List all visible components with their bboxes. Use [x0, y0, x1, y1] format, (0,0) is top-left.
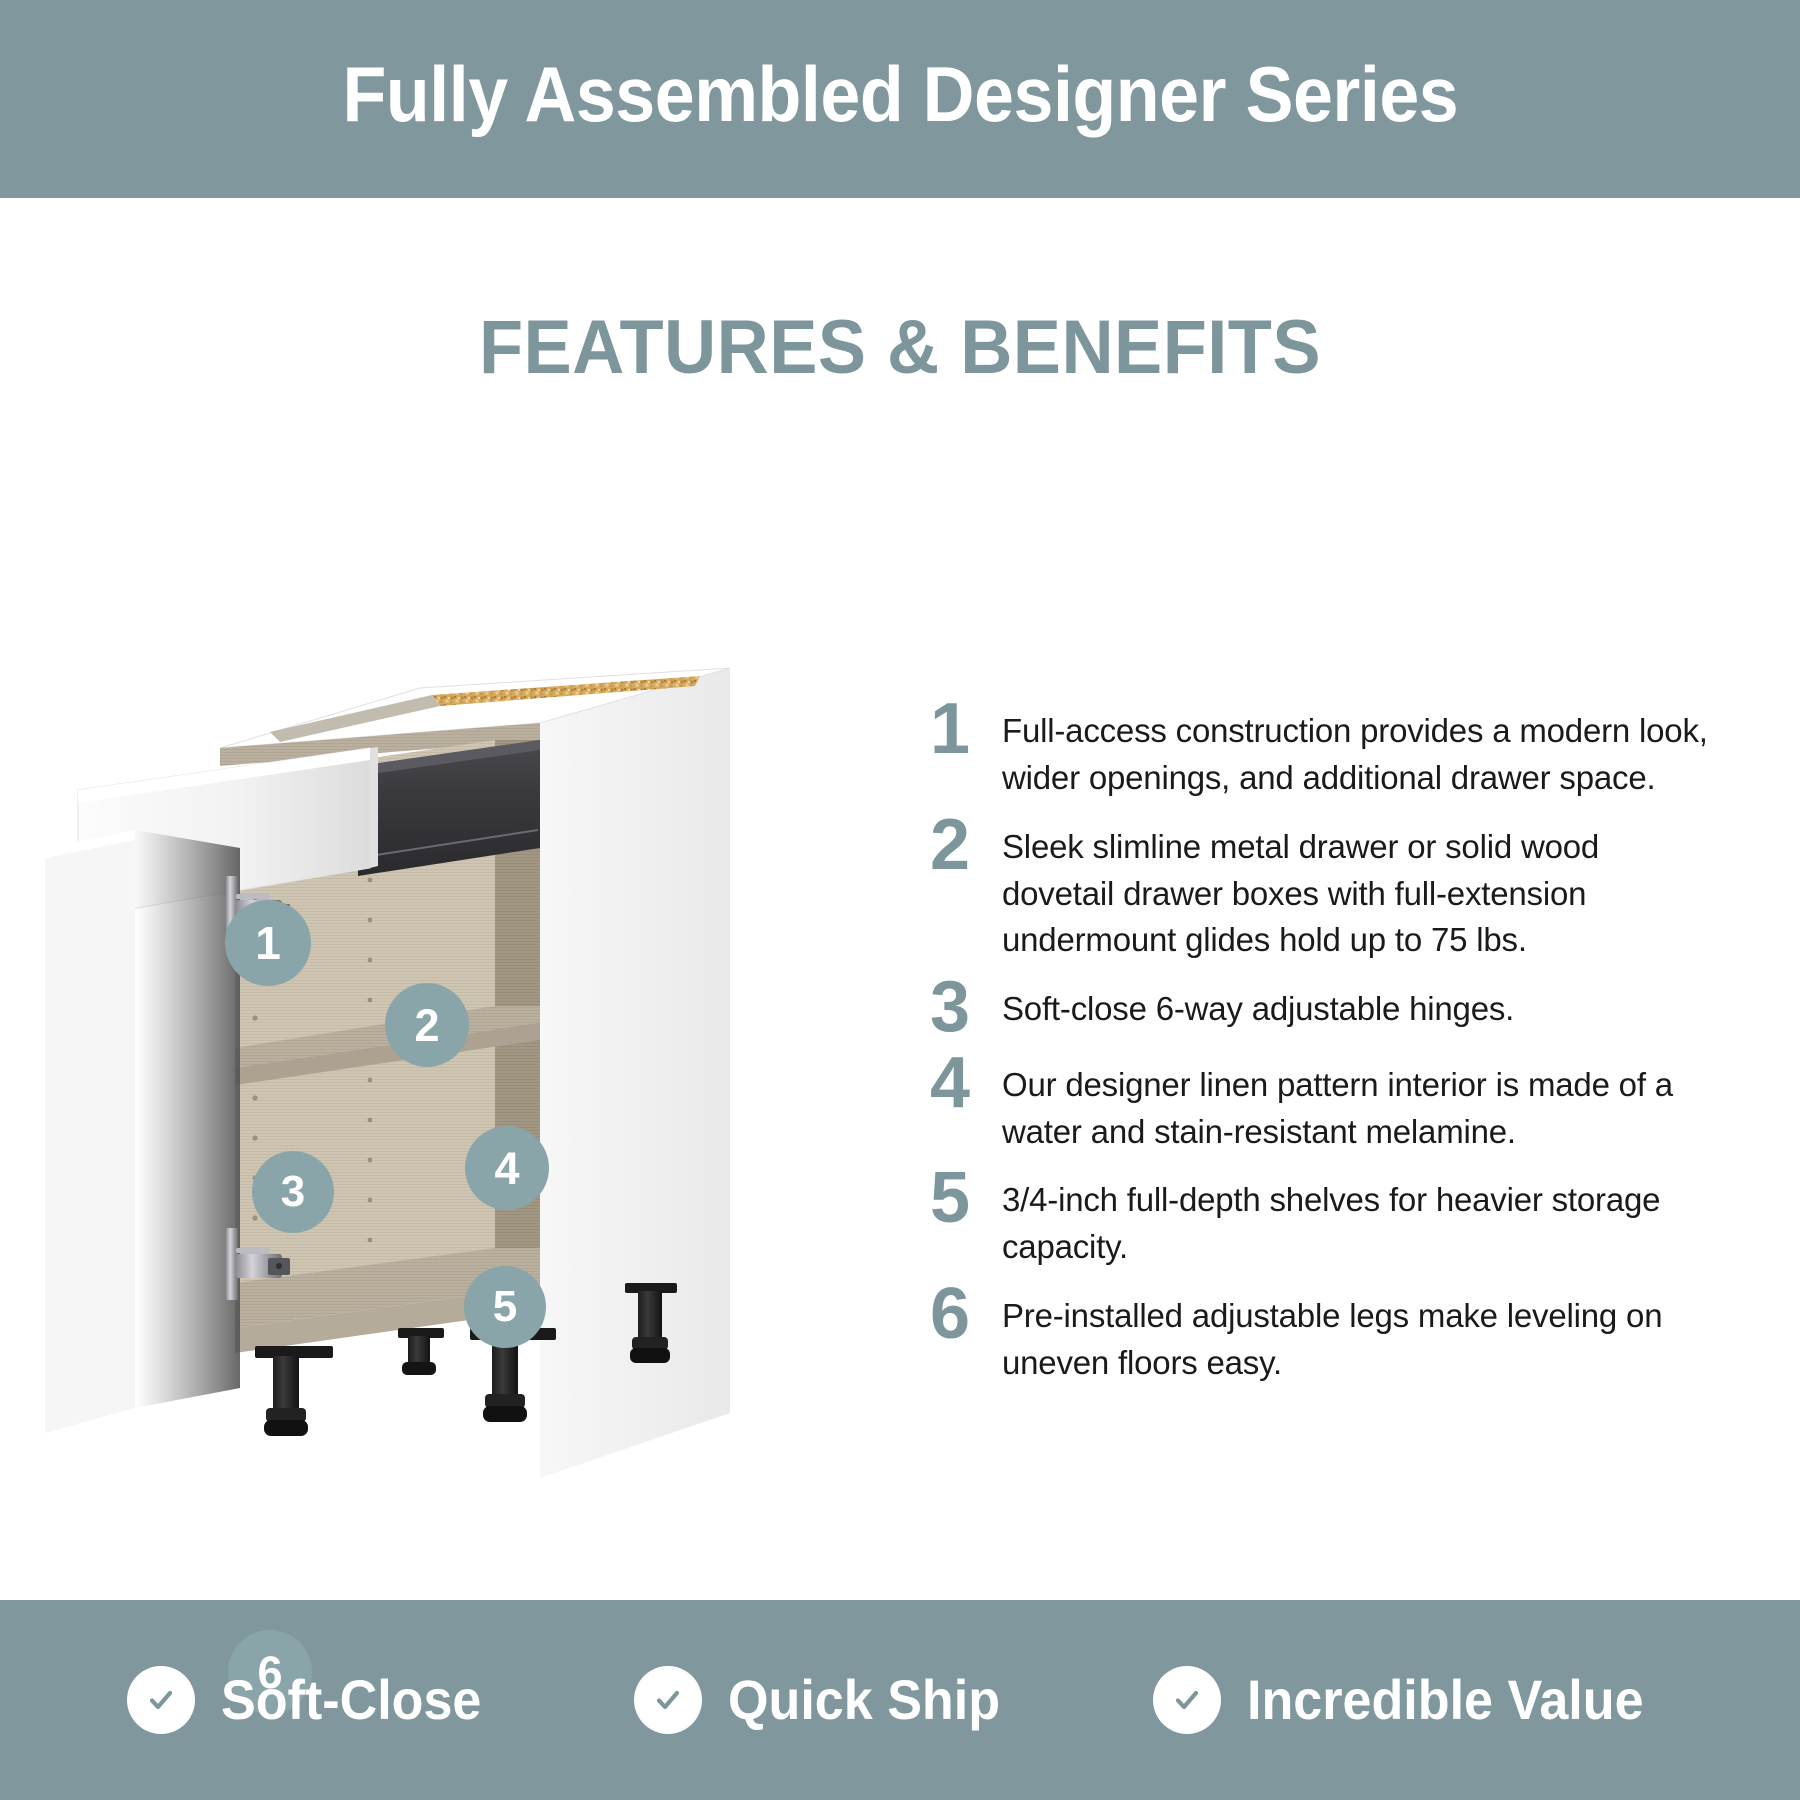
check-circle-icon — [127, 1666, 195, 1734]
footer-label-quick-ship: Quick Ship — [728, 1672, 1000, 1728]
adjustable-leg-front-left — [255, 1346, 333, 1436]
feature-text-4: Our designer linen pattern interior is m… — [1002, 1062, 1720, 1156]
page-title: Fully Assembled Designer Series — [342, 55, 1458, 133]
footer-badge-soft-close: Soft-Close — [127, 1666, 501, 1734]
adjustable-leg-mid — [398, 1328, 444, 1375]
door-outer-face — [45, 830, 135, 1433]
feature-item-4: 4 Our designer linen pattern interior is… — [930, 1062, 1720, 1156]
footer-label-soft-close: Soft-Close — [221, 1672, 481, 1728]
cabinet-illustration: 1 2 3 4 5 6 — [40, 448, 840, 1568]
callout-badge-1[interactable]: 1 — [225, 900, 311, 986]
feature-text-1: Full-access construction provides a mode… — [1002, 708, 1720, 802]
callout-badge-2[interactable]: 2 — [385, 983, 469, 1067]
infographic-page: Fully Assembled Designer Series FEATURES… — [0, 0, 1800, 1800]
footer-label-incredible-value: Incredible Value — [1247, 1672, 1644, 1728]
header-bar: Fully Assembled Designer Series — [0, 0, 1800, 198]
feature-item-1: 1 Full-access construction provides a mo… — [930, 708, 1720, 802]
footer-badge-incredible-value: Incredible Value — [1153, 1666, 1673, 1734]
feature-number-6: 6 — [930, 1283, 1002, 1346]
body-area: FEATURES & BENEFITS — [0, 198, 1800, 1600]
feature-text-2: Sleek slimline metal drawer or solid woo… — [1002, 824, 1720, 965]
feature-item-6: 6 Pre-installed adjustable legs make lev… — [930, 1293, 1720, 1387]
feature-item-2: 2 Sleek slimline metal drawer or solid w… — [930, 824, 1720, 965]
check-circle-icon — [634, 1666, 702, 1734]
feature-number-4: 4 — [930, 1052, 1002, 1115]
door-inner-face-shaded — [135, 830, 240, 1408]
feature-number-1: 1 — [930, 698, 1002, 761]
drawer-front-right-edge — [370, 747, 378, 868]
footer-badge-quick-ship: Quick Ship — [634, 1666, 1021, 1734]
feature-item-3: 3 Soft-close 6-way adjustable hinges. — [930, 986, 1720, 1039]
section-heading: FEATURES & BENEFITS — [45, 310, 1755, 386]
feature-text-3: Soft-close 6-way adjustable hinges. — [1002, 986, 1720, 1033]
callout-badge-3[interactable]: 3 — [252, 1151, 334, 1233]
feature-number-5: 5 — [930, 1167, 1002, 1230]
callout-badge-4[interactable]: 4 — [465, 1126, 549, 1210]
feature-list: 1 Full-access construction provides a mo… — [930, 708, 1720, 1409]
feature-number-2: 2 — [930, 814, 1002, 877]
callout-badge-5[interactable]: 5 — [464, 1266, 546, 1348]
feature-text-6: Pre-installed adjustable legs make level… — [1002, 1293, 1720, 1387]
feature-item-5: 5 3/4-inch full-depth shelves for heavie… — [930, 1177, 1720, 1271]
check-circle-icon — [1153, 1666, 1221, 1734]
feature-text-5: 3/4-inch full-depth shelves for heavier … — [1002, 1177, 1720, 1271]
feature-number-3: 3 — [930, 976, 1002, 1039]
